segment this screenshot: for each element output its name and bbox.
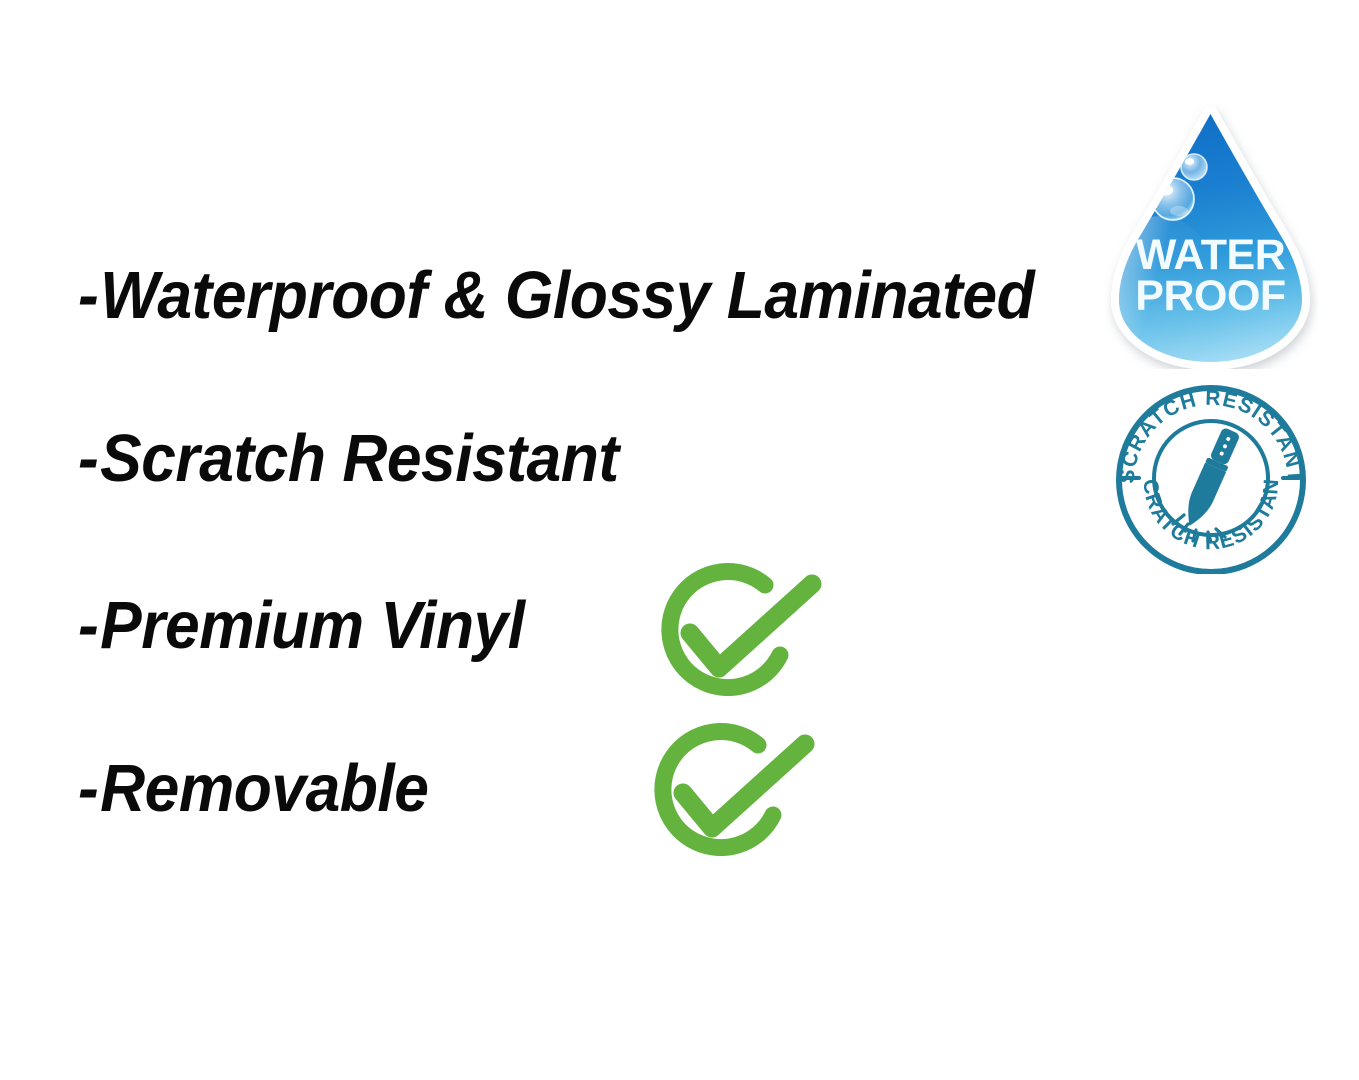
feature-item-scratch-resistant: -Scratch Resistant [78, 425, 619, 492]
feature-bullet-dash: - [78, 262, 98, 329]
check-mark-stroke [683, 744, 805, 828]
checkmark-premium-vinyl [640, 558, 835, 718]
check-circle-icon [640, 558, 835, 718]
feature-bullet-dash: - [78, 592, 98, 659]
check-circle-icon [633, 718, 828, 878]
feature-bullet-dash: - [78, 425, 98, 492]
water-drop-icon: WATER PROOF [1103, 104, 1318, 369]
feature-label: Scratch Resistant [100, 421, 618, 496]
feature-label: Removable [100, 751, 428, 826]
feature-item-premium-vinyl: -Premium Vinyl [78, 592, 525, 659]
waterproof-badge: WATER PROOF [1103, 104, 1318, 369]
feature-item-removable: -Removable [78, 755, 428, 822]
feature-item-waterproof: -Waterproof & Glossy Laminated [78, 262, 1034, 329]
scratch-resistant-badge: SCRATCH RESISTANT SCRATCH RESISTANT [1112, 382, 1310, 574]
feature-bullet-dash: - [78, 755, 98, 822]
knife-icon [1179, 426, 1242, 530]
checkmark-removable [633, 718, 828, 878]
feature-label: Waterproof & Glossy Laminated [100, 258, 1034, 333]
check-mark-stroke [690, 584, 812, 668]
knife-seal-icon: SCRATCH RESISTANT SCRATCH RESISTANT [1112, 382, 1310, 574]
waterproof-line2: PROOF [1135, 272, 1285, 320]
feature-list-graphic: -Waterproof & Glossy Laminated -Scratch … [0, 0, 1359, 1080]
feature-label: Premium Vinyl [100, 588, 525, 663]
